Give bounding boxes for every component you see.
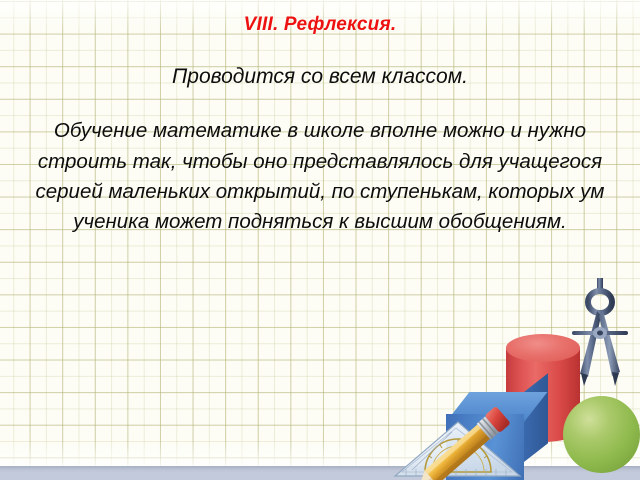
pencil-icon (404, 418, 522, 480)
body-paragraph: Обучение математике в школе вполне можно… (30, 90, 610, 237)
cylinder-top-face (506, 334, 580, 362)
page-title: VIII. Рефлексия. (0, 0, 640, 36)
text-content: VIII. Рефлексия. Проводится со всем клас… (0, 0, 640, 238)
sphere-shape (563, 396, 640, 473)
subtitle-text: Проводится со всем классом. (0, 36, 640, 90)
slide-canvas: VIII. Рефлексия. Проводится со всем клас… (0, 0, 640, 480)
